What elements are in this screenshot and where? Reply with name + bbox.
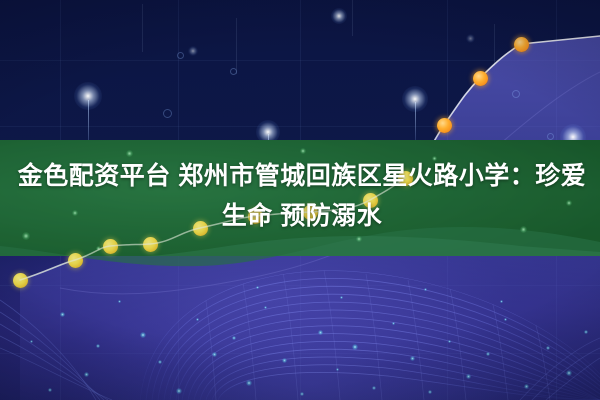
chart-marker: [437, 118, 452, 133]
lower-haze: [0, 250, 600, 400]
banner-image: 金色配资平台 郑州市管城回族区星火路小学：珍爱生命 预防溺水: [0, 0, 600, 400]
chart-marker: [13, 273, 28, 288]
page-title: 金色配资平台 郑州市管城回族区星火路小学：珍爱生命 预防溺水: [8, 156, 596, 236]
chart-marker: [473, 71, 488, 86]
chart-marker: [514, 37, 529, 52]
